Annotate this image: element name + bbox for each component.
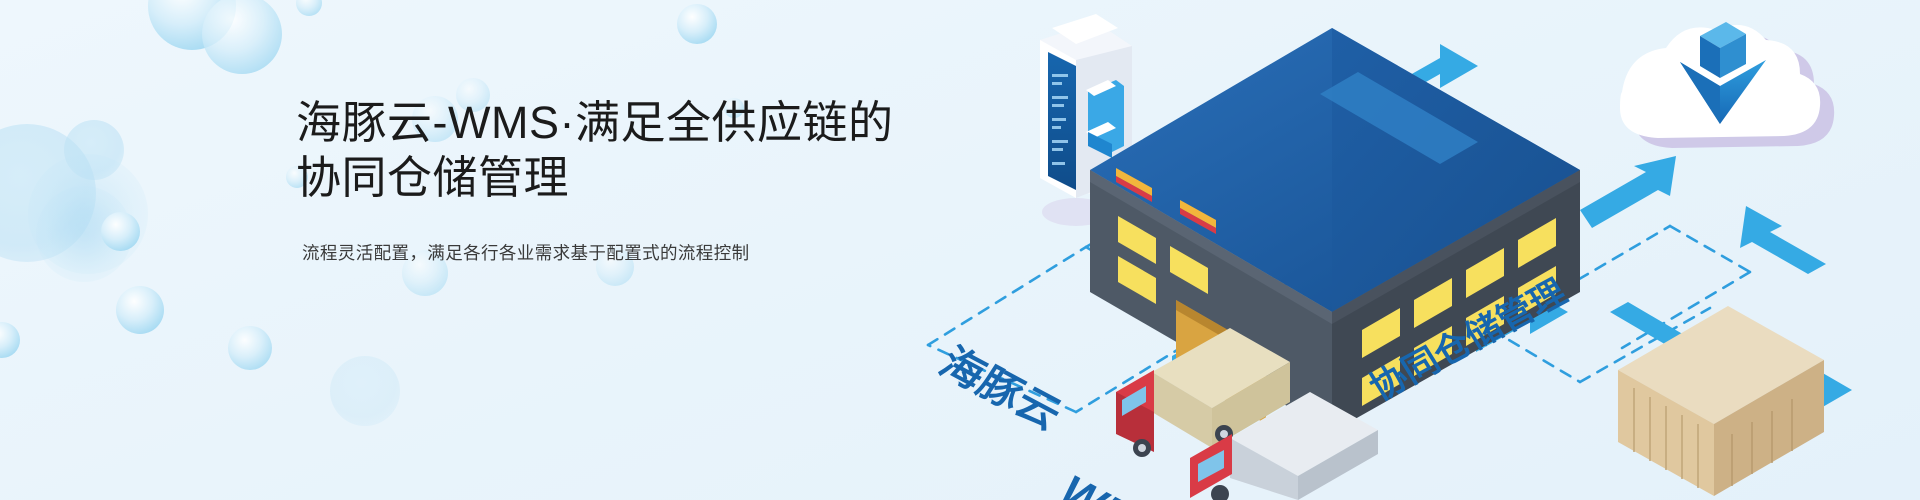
bubble <box>330 356 400 426</box>
cloud-download-icon <box>1620 22 1834 148</box>
bubble <box>148 0 236 50</box>
bubble <box>677 4 717 44</box>
bubble <box>28 154 148 274</box>
arrow-icon <box>1740 206 1826 274</box>
label-brand: 海豚云 <box>932 339 1070 438</box>
promo-banner: 海豚云-WMS·满足全供应链的 协同仓储管理 流程灵活配置，满足各行各业需求基于… <box>0 0 1920 500</box>
bubble <box>116 286 164 334</box>
bubble <box>101 212 140 251</box>
warehouse-illustration: 海豚云 WMS 协同仓储管理 <box>880 0 1920 500</box>
arrow-icon <box>1580 156 1676 228</box>
bubble <box>296 0 322 16</box>
banner-text-block: 海豚云-WMS·满足全供应链的 协同仓储管理 流程灵活配置，满足各行各业需求基于… <box>296 96 936 265</box>
bubble <box>228 326 272 370</box>
banner-subtitle: 流程灵活配置，满足各行各业需求基于配置式的流程控制 <box>302 240 936 265</box>
bubble <box>0 322 20 358</box>
bubble <box>64 120 124 180</box>
page-title: 海豚云-WMS·满足全供应链的 协同仓储管理 <box>296 96 936 206</box>
label-product: WMS <box>1053 467 1173 500</box>
bubble <box>202 0 282 74</box>
bubble <box>36 186 132 282</box>
bubble <box>0 124 96 262</box>
